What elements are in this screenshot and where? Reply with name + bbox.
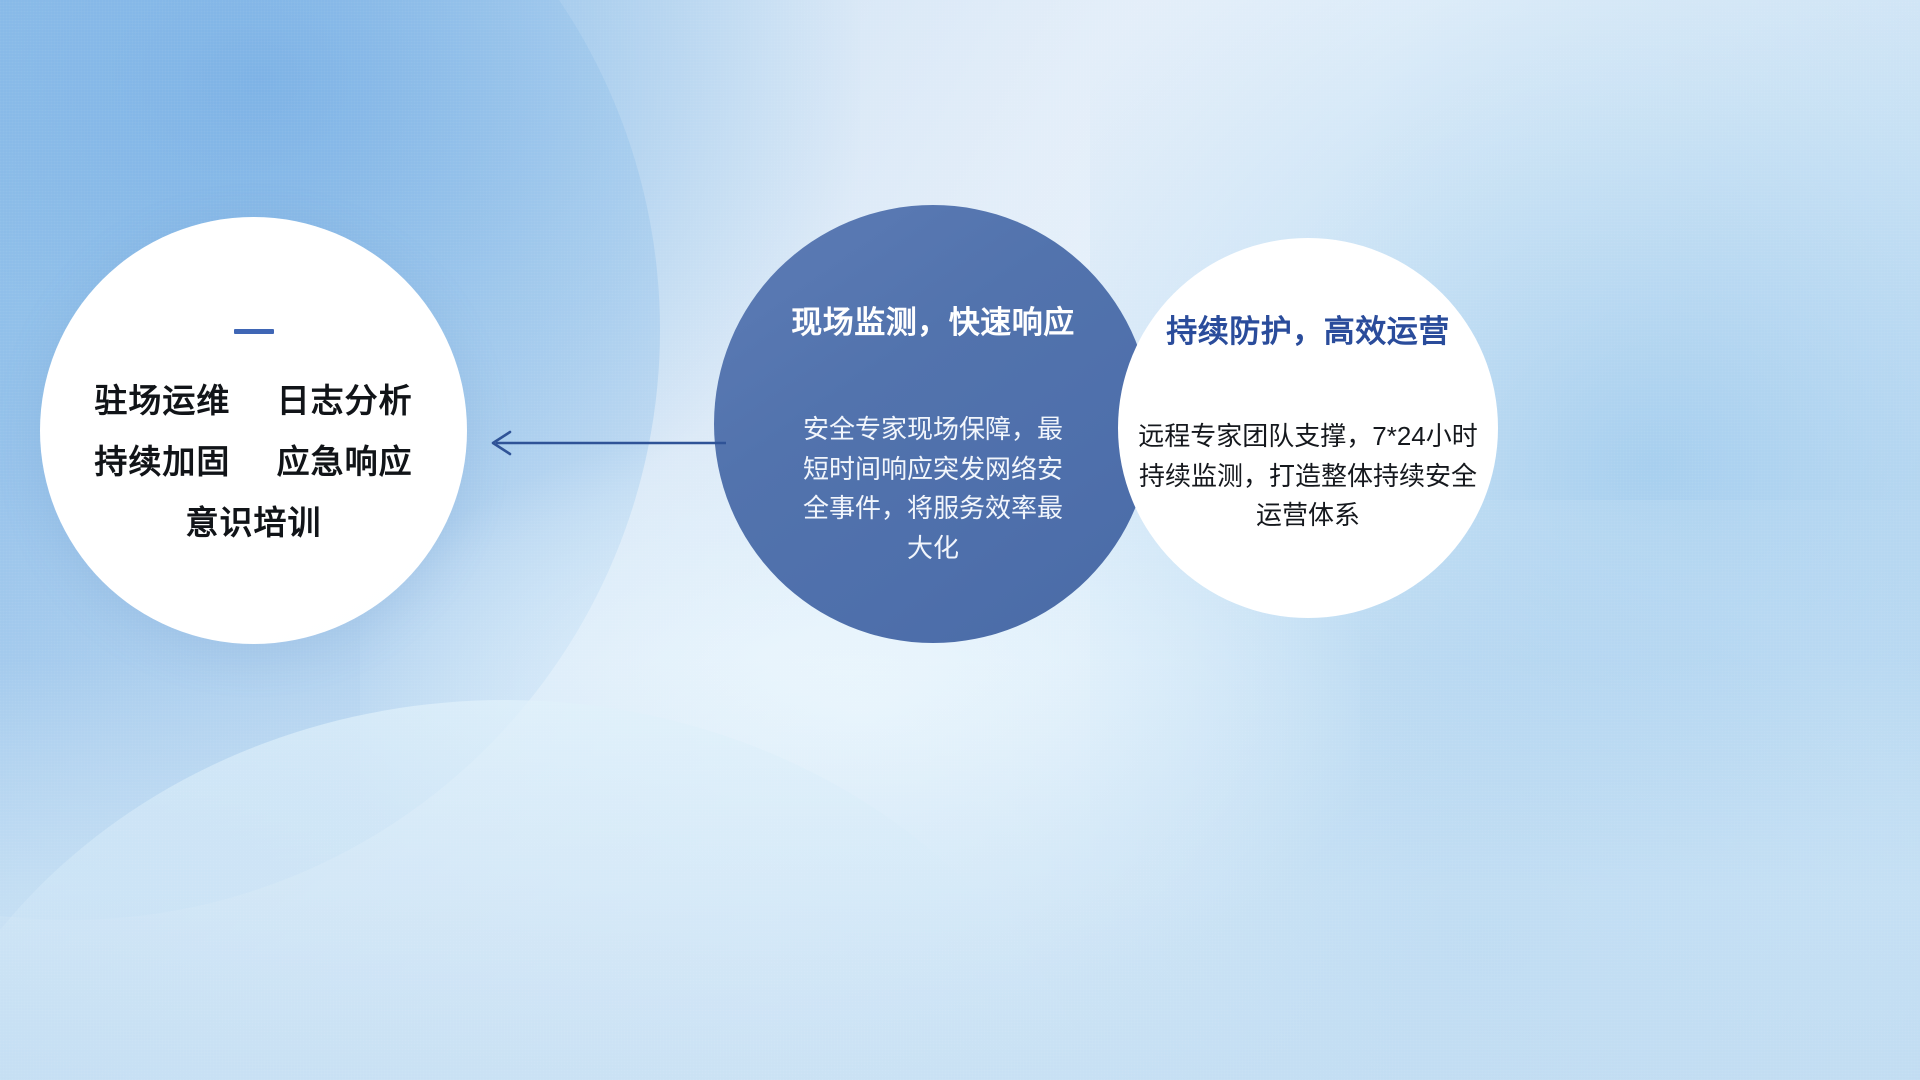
service-item-label: 驻场运维 — [94, 382, 230, 419]
list-item: 意识培训 — [94, 506, 412, 539]
onsite-card-title: 现场监测，快速响应 — [791, 297, 1075, 342]
list-item: 驻场运维 日志分析 — [94, 384, 412, 417]
service-item-label: 意识培训 — [186, 504, 322, 541]
protection-card-body: 远程专家团队支撑，7*24小时持续监测，打造整体持续安全运营体系 — [1138, 417, 1478, 536]
service-item-label: 日志分析 — [277, 382, 413, 419]
circle-card-service-items[interactable]: 驻场运维 日志分析 持续加固 应急响应 意识培训 — [40, 217, 467, 644]
protection-card-title: 持续防护，高效运营 — [1166, 306, 1450, 351]
circle-card-onsite-monitoring[interactable]: 现场监测，快速响应 安全专家现场保障，最短时间响应突发网络安全事件，将服务效率最… — [714, 205, 1152, 643]
slide-canvas: 现场监测，快速响应 安全专家现场保障，最短时间响应突发网络安全事件，将服务效率最… — [0, 0, 1920, 1080]
list-item: 持续加固 应急响应 — [94, 445, 412, 478]
service-item-label: 持续加固 — [94, 443, 230, 480]
onsite-card-body: 安全专家现场保障，最短时间响应突发网络安全事件，将服务效率最大化 — [799, 410, 1067, 568]
service-item-list: 驻场运维 日志分析 持续加固 应急响应 意识培训 — [94, 384, 412, 539]
service-item-label: 应急响应 — [277, 443, 413, 480]
title-divider-dash — [234, 329, 274, 334]
circle-card-continuous-protection[interactable]: 持续防护，高效运营 远程专家团队支撑，7*24小时持续监测，打造整体持续安全运营… — [1118, 238, 1498, 618]
leftward-arrow-icon — [480, 415, 730, 471]
